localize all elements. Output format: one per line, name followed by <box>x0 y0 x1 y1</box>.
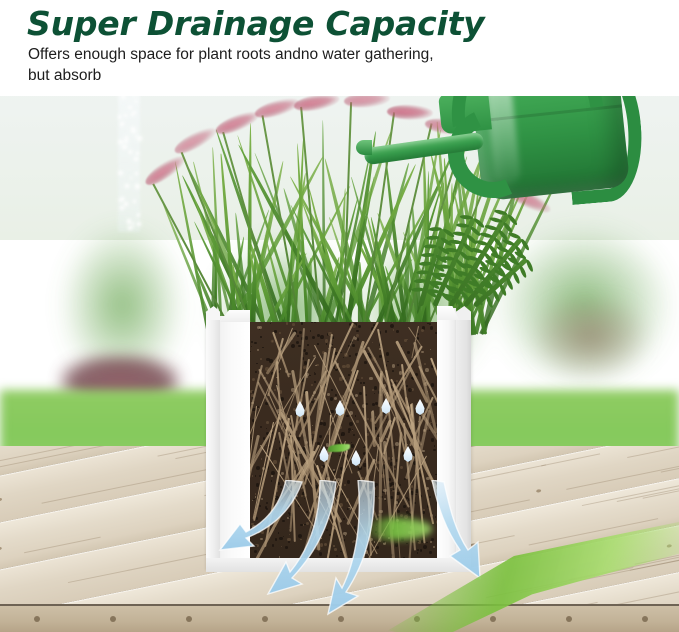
water-droplet <box>402 446 414 462</box>
product-marketing-image: Super Drainage Capacity Offers enough sp… <box>0 0 679 632</box>
water-sparkle <box>134 157 138 161</box>
fern-leaflet <box>484 224 498 231</box>
page-subtitle: Offers enough space for plant roots andn… <box>28 44 458 86</box>
water-sparkle <box>130 177 132 179</box>
fern-leaflet <box>485 295 494 309</box>
fern-leaflet <box>411 287 424 291</box>
fern-leaflet <box>470 247 484 254</box>
wood-knot <box>536 489 541 493</box>
water-sparkle <box>135 184 140 189</box>
fern-leaflet <box>426 236 439 240</box>
water-sparkle <box>138 213 140 215</box>
page-title: Super Drainage Capacity <box>27 4 484 43</box>
drainage-arrow <box>220 480 302 550</box>
water-sparkle <box>124 114 127 117</box>
water-sparkle <box>133 200 136 203</box>
deck-screw <box>642 616 648 622</box>
water-sparkle <box>136 152 139 155</box>
fern-leaflet <box>456 223 469 228</box>
fern-leaflet <box>421 253 434 257</box>
water-sparkle <box>124 202 128 206</box>
water-sparkle <box>118 115 121 118</box>
deck-screw <box>566 616 572 622</box>
header-band: Super Drainage Capacity Offers enough sp… <box>0 0 679 96</box>
water-droplet <box>334 400 346 416</box>
fern-leaflet <box>416 270 429 274</box>
planter-left-rim <box>220 310 250 322</box>
fern-leaflet <box>414 279 427 283</box>
water-sparkle <box>135 172 138 175</box>
water-sparkle <box>122 145 127 150</box>
water-droplet <box>294 401 306 417</box>
water-sparkle <box>118 140 122 144</box>
water-sparkle <box>131 127 135 131</box>
wood-knot <box>0 547 2 551</box>
wood-knot <box>0 497 2 501</box>
water-sparkle <box>128 106 132 110</box>
water-droplet <box>350 450 362 466</box>
fern-leaflet <box>475 239 489 246</box>
drainage-arrow <box>432 480 480 578</box>
drainage-arrow <box>328 480 374 614</box>
fern-leaflet <box>429 227 442 231</box>
water-sparkle <box>121 122 124 125</box>
water-sparkle <box>118 171 122 175</box>
water-sparkle <box>125 184 129 188</box>
water-droplet <box>414 399 426 415</box>
wood-grain <box>627 446 679 458</box>
water-sparkle <box>129 150 132 153</box>
water-sparkle <box>135 100 138 103</box>
drainage-arrow <box>268 480 336 594</box>
fern-leaflet <box>480 232 494 239</box>
fern-leaflet <box>419 261 432 265</box>
water-sparkle <box>133 111 136 114</box>
fern-leaflet <box>424 244 437 248</box>
gazebo-silhouette <box>530 300 650 380</box>
deck-screw <box>110 616 116 622</box>
planter-left-post-cap <box>206 306 220 320</box>
planter-right-post-cap <box>456 306 471 320</box>
water-sparkle <box>127 219 132 224</box>
water-sparkle <box>137 136 142 141</box>
water-sparkle <box>124 139 128 143</box>
water-sparkle <box>132 222 134 224</box>
water-droplet <box>380 398 392 414</box>
water-sparkle <box>120 206 124 210</box>
fern-leaflet <box>460 215 473 220</box>
deck-screw <box>186 616 192 622</box>
water-sparkle <box>132 226 134 228</box>
water-sparkle <box>125 136 128 139</box>
deck-screw <box>34 616 40 622</box>
